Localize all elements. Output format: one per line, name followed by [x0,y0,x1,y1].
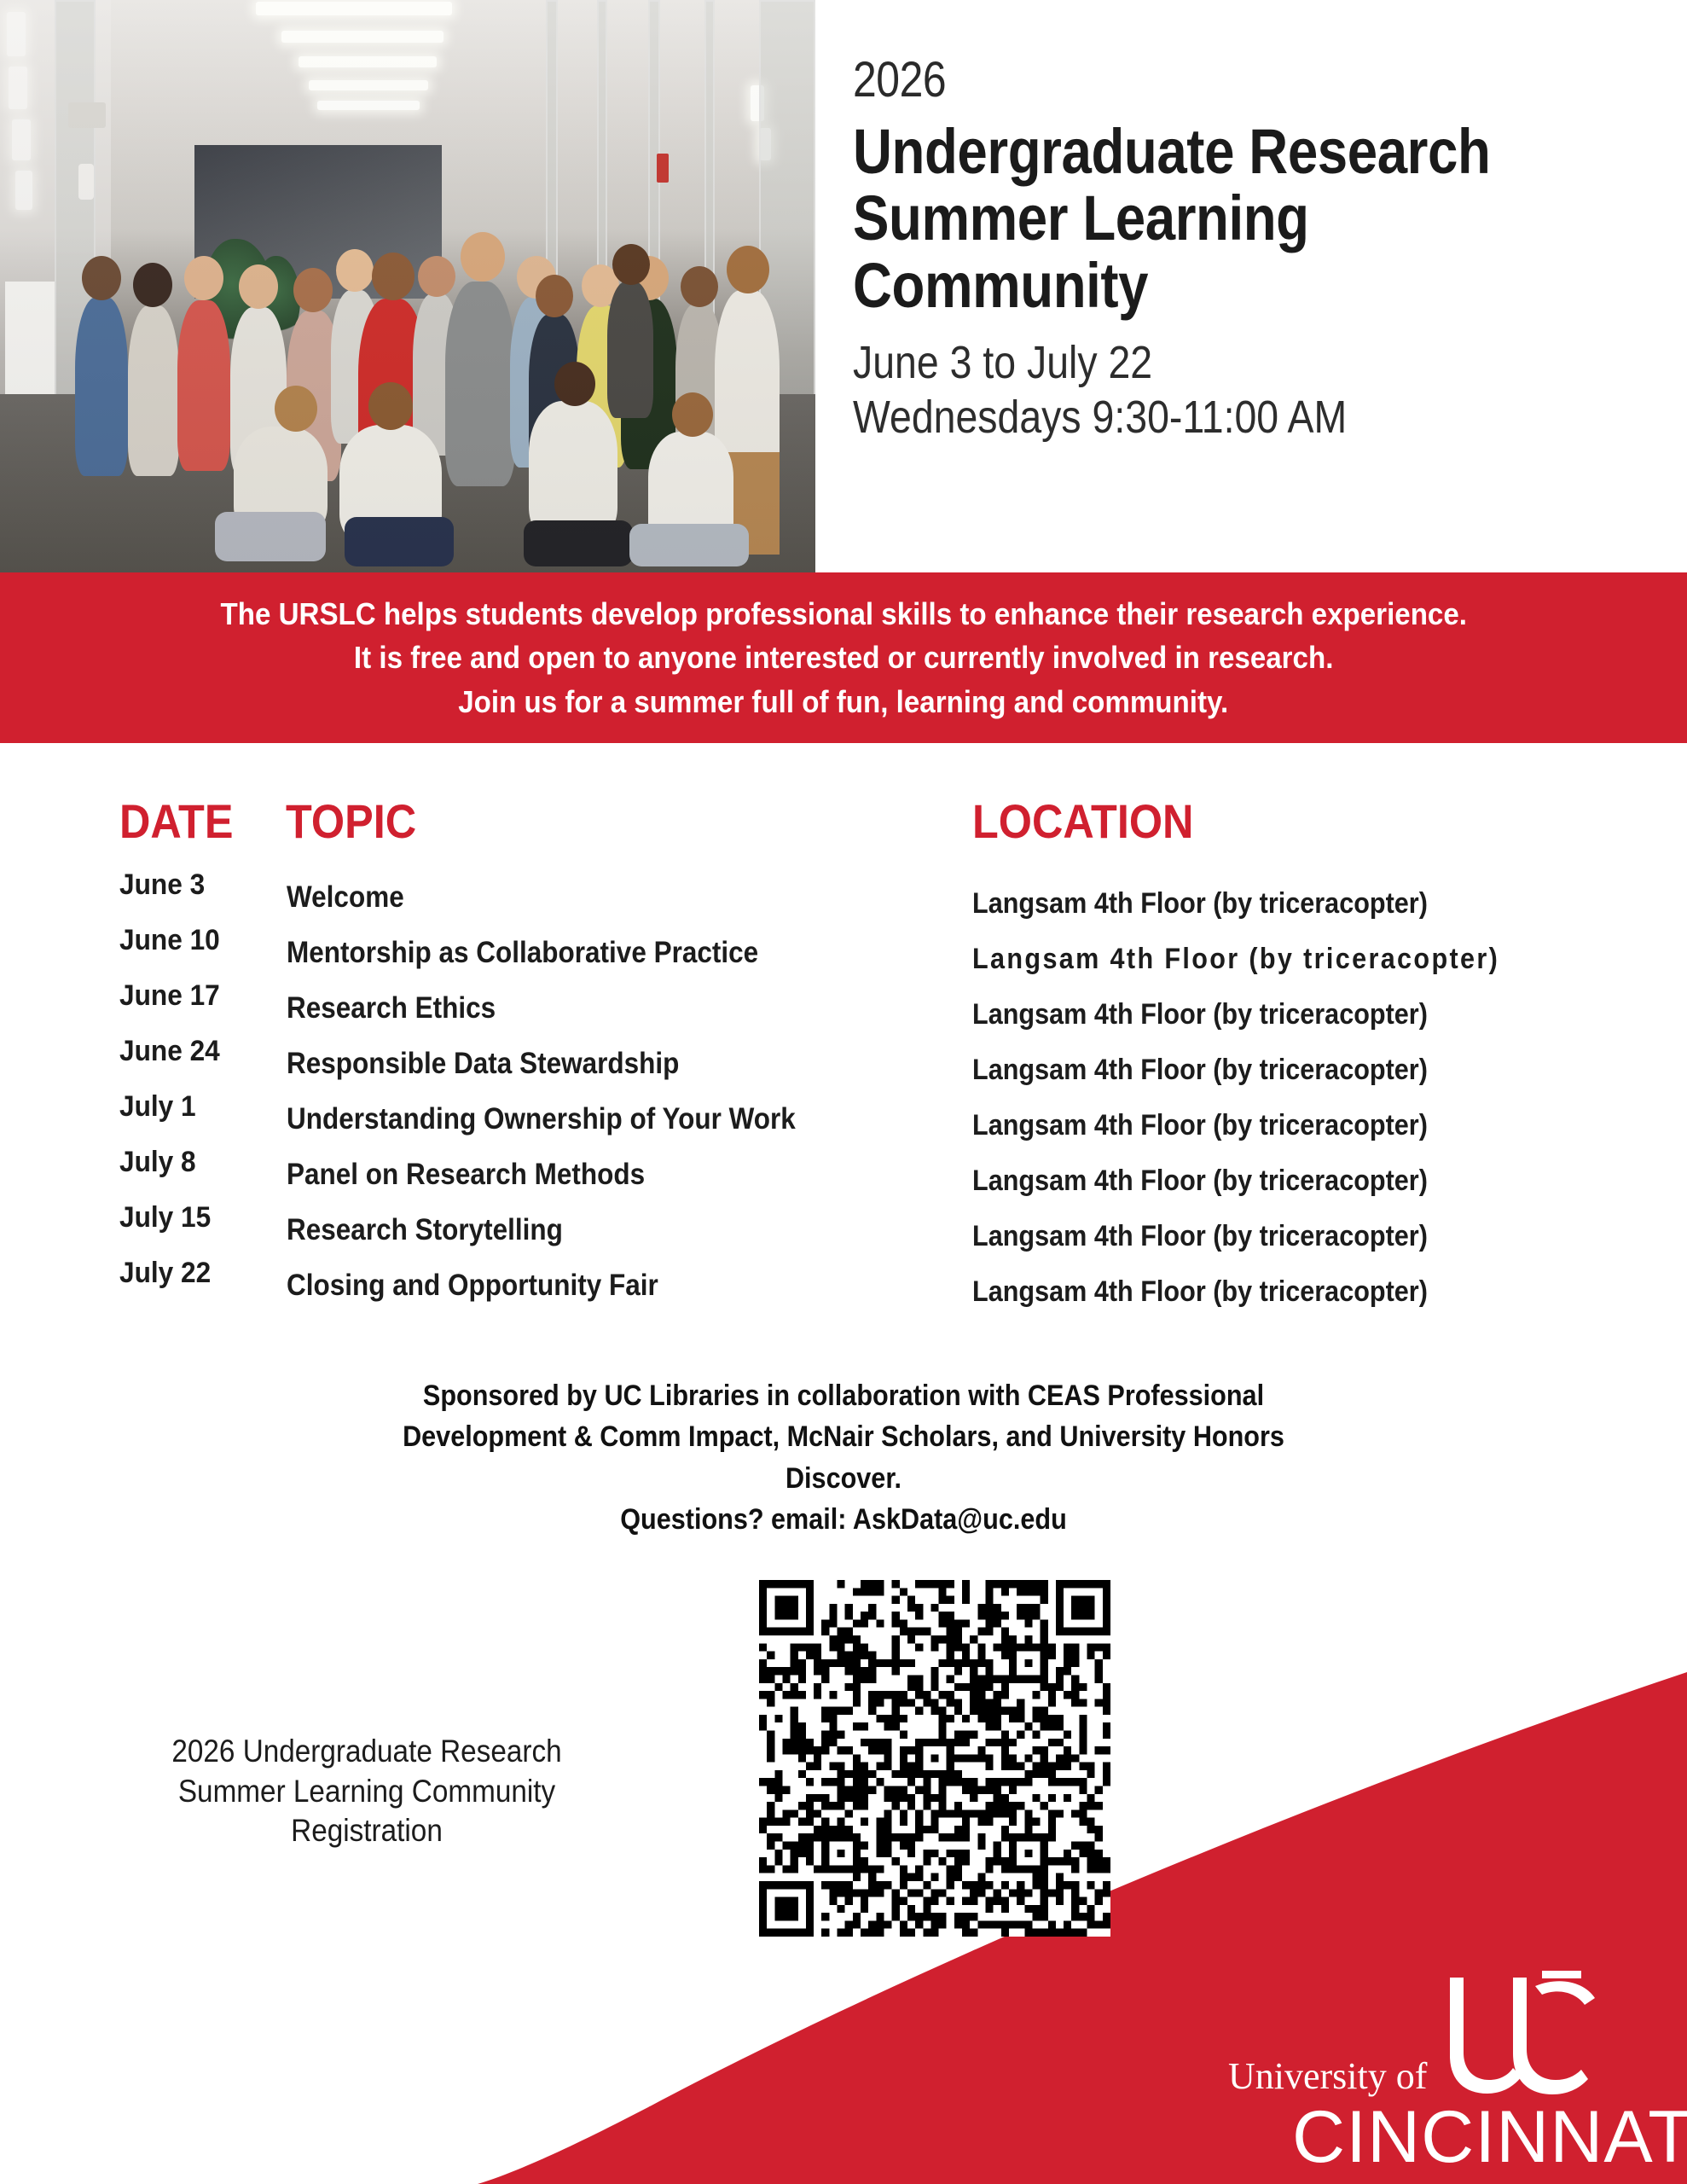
title-line-2: Summer Learning [853,185,1557,252]
cell-location: Langsam 4th Floor (by triceracopter) [972,887,1540,921]
sponsor-line-3: Discover. [84,1458,1603,1499]
title-line-1: Undergraduate Research [853,119,1557,185]
logo-university-of: University of [1228,2054,1427,2098]
sponsor-line-1: Sponsored by UC Libraries in collaborati… [84,1375,1603,1416]
uc-logo: University of CINCINNATI [1220,1979,1663,2175]
cell-location: Langsam 4th Floor (by triceracopter) [972,1165,1540,1198]
banner-line-2: It is free and open to anyone interested… [354,636,1333,679]
cell-date: July 15 [119,1201,211,1234]
table-row: July 1 Understanding Ownership of Your W… [0,1090,1687,1146]
registration-qr-code[interactable] [759,1580,1110,1937]
table-row: July 8 Panel on Research Methods Langsam… [0,1146,1687,1201]
cell-topic: Panel on Research Methods [287,1158,645,1192]
qr-caption: 2026 Undergraduate Research Summer Learn… [85,1732,648,1851]
logo-cincinnati: CINCINNATI [1292,2095,1687,2180]
uc-monogram-icon [1433,1971,1603,2107]
cell-date: June 10 [119,924,220,957]
qr-caption-line-2: Summer Learning Community [113,1772,620,1812]
cell-date: July 22 [119,1257,211,1290]
cell-topic: Research Ethics [287,991,496,1025]
table-row: July 22 Closing and Opportunity Fair Lan… [0,1257,1687,1312]
cell-topic: Research Storytelling [287,1213,563,1247]
cell-location: Langsam 4th Floor (by triceracopter) [972,1109,1540,1142]
sponsor-line-2: Development & Comm Impact, McNair Schola… [84,1416,1603,1457]
qr-canvas[interactable] [759,1580,1110,1937]
column-header-topic: TOPIC [286,793,416,849]
table-row: June 3 Welcome Langsam 4th Floor (by tri… [0,868,1687,924]
cell-topic: Mentorship as Collaborative Practice [287,936,758,970]
cell-date: July 1 [119,1090,196,1124]
date-range: June 3 to July 22 [853,336,1557,391]
column-header-date: DATE [119,793,233,849]
cell-topic: Responsible Data Stewardship [287,1047,679,1081]
qr-caption-line-1: 2026 Undergraduate Research [113,1732,620,1772]
cell-date: July 8 [119,1146,196,1179]
banner-line-3: Join us for a summer full of fun, learni… [459,680,1229,723]
table-row: June 17 Research Ethics Langsam 4th Floo… [0,979,1687,1035]
cell-date: June 3 [119,868,205,902]
cell-location: Langsam 4th Floor (by triceracopter) [972,1054,1540,1087]
qr-caption-line-3: Registration [113,1811,620,1851]
cell-date: June 17 [119,979,220,1013]
cell-topic: Welcome [287,880,404,915]
header-text-block: 2026 Undergraduate Research Summer Learn… [853,51,1672,445]
table-row: June 10 Mentorship as Collaborative Prac… [0,924,1687,979]
page-title: Undergraduate Research Summer Learning C… [853,119,1557,319]
cell-location: Langsam 4th Floor (by triceracopter) [972,998,1540,1031]
banner-line-1: The URSLC helps students develop profess… [220,592,1466,636]
table-row: June 24 Responsible Data Stewardship Lan… [0,1035,1687,1090]
description-banner: The URSLC helps students develop profess… [0,572,1687,743]
time-range: Wednesdays 9:30-11:00 AM [853,391,1557,445]
title-line-3: Community [853,253,1557,319]
column-header-location: LOCATION [972,793,1193,849]
table-row: July 15 Research Storytelling Langsam 4t… [0,1201,1687,1257]
sponsor-block: Sponsored by UC Libraries in collaborati… [0,1375,1687,1540]
cell-date: June 24 [119,1035,220,1068]
cell-location: Langsam 4th Floor (by triceracopter) [972,1220,1540,1253]
cell-topic: Understanding Ownership of Your Work [287,1102,796,1136]
contact-email-line[interactable]: Questions? email: AskData@uc.edu [84,1499,1603,1540]
cell-location: Langsam 4th Floor (by triceracopter) [972,1275,1540,1309]
header-photo [0,0,815,573]
year-label: 2026 [853,51,1557,108]
cell-topic: Closing and Opportunity Fair [287,1269,658,1303]
cell-location: Langsam 4th Floor (by triceracopter) [972,943,1540,976]
